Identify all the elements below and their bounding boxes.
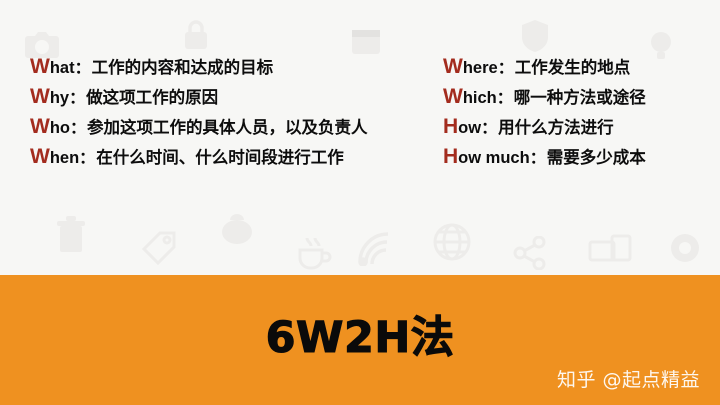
term-how-much: How much — [443, 149, 530, 167]
term-rest: ow — [458, 119, 481, 137]
term-initial: W — [30, 145, 50, 168]
left-column: What：工作的内容和达成的目标 Why：做这项工作的原因 Who：参加这项工作… — [30, 52, 368, 172]
title-banner: 6W2H法 知乎 @起点精益 — [0, 275, 720, 405]
term-what: What — [30, 59, 75, 77]
term-how: How — [443, 119, 481, 137]
term-initial: W — [30, 115, 50, 138]
term-colon: ： — [79, 150, 96, 167]
list-item: Why：做这项工作的原因 — [30, 82, 368, 112]
list-item: Where：工作发生的地点 — [443, 52, 646, 82]
term-colon: ： — [481, 120, 498, 137]
term-description: 在什么时间、什么时间段进行工作 — [96, 148, 344, 167]
content-area: What：工作的内容和达成的目标 Why：做这项工作的原因 Who：参加这项工作… — [0, 0, 720, 275]
term-description: 参加这项工作的具体人员，以及负责人 — [87, 118, 368, 137]
term-initial: H — [443, 145, 458, 168]
term-colon: ： — [498, 60, 515, 77]
term-description: 需要多少成本 — [547, 148, 646, 167]
list-item: How：用什么方法进行 — [443, 112, 646, 142]
term-initial: W — [443, 85, 463, 108]
right-column: Where：工作发生的地点 Which：哪一种方法或途径 How：用什么方法进行… — [443, 52, 646, 172]
term-rest: ow much — [458, 149, 530, 167]
term-description: 工作的内容和达成的目标 — [92, 58, 274, 77]
watermark-attribution: 知乎 @起点精益 — [557, 365, 700, 392]
term-description: 工作发生的地点 — [515, 58, 631, 77]
term-colon: ： — [69, 90, 86, 107]
term-rest: hat — [50, 59, 75, 77]
term-who: Who — [30, 119, 70, 137]
term-colon: ： — [530, 150, 547, 167]
term-rest: hy — [50, 89, 69, 107]
term-initial: W — [30, 85, 50, 108]
term-rest: hen — [50, 149, 79, 167]
term-initial: W — [443, 55, 463, 78]
term-where: Where — [443, 59, 498, 77]
term-when: When — [30, 149, 79, 167]
term-why: Why — [30, 89, 69, 107]
term-description: 做这项工作的原因 — [86, 88, 218, 107]
list-item: When：在什么时间、什么时间段进行工作 — [30, 142, 368, 172]
term-rest: here — [463, 59, 498, 77]
term-rest: ho — [50, 119, 70, 137]
list-item: How much：需要多少成本 — [443, 142, 646, 172]
term-colon: ： — [75, 60, 92, 77]
term-rest: hich — [463, 89, 497, 107]
list-item: Which：哪一种方法或途径 — [443, 82, 646, 112]
term-colon: ： — [497, 90, 514, 107]
list-item: What：工作的内容和达成的目标 — [30, 52, 368, 82]
term-initial: H — [443, 115, 458, 138]
term-description: 哪一种方法或途径 — [514, 88, 646, 107]
page-title: 6W2H法 — [0, 303, 720, 365]
list-item: Who：参加这项工作的具体人员，以及负责人 — [30, 112, 368, 142]
slide-root: What：工作的内容和达成的目标 Why：做这项工作的原因 Who：参加这项工作… — [0, 0, 720, 405]
term-which: Which — [443, 89, 497, 107]
term-initial: W — [30, 55, 50, 78]
term-colon: ： — [70, 120, 87, 137]
term-description: 用什么方法进行 — [498, 118, 614, 137]
